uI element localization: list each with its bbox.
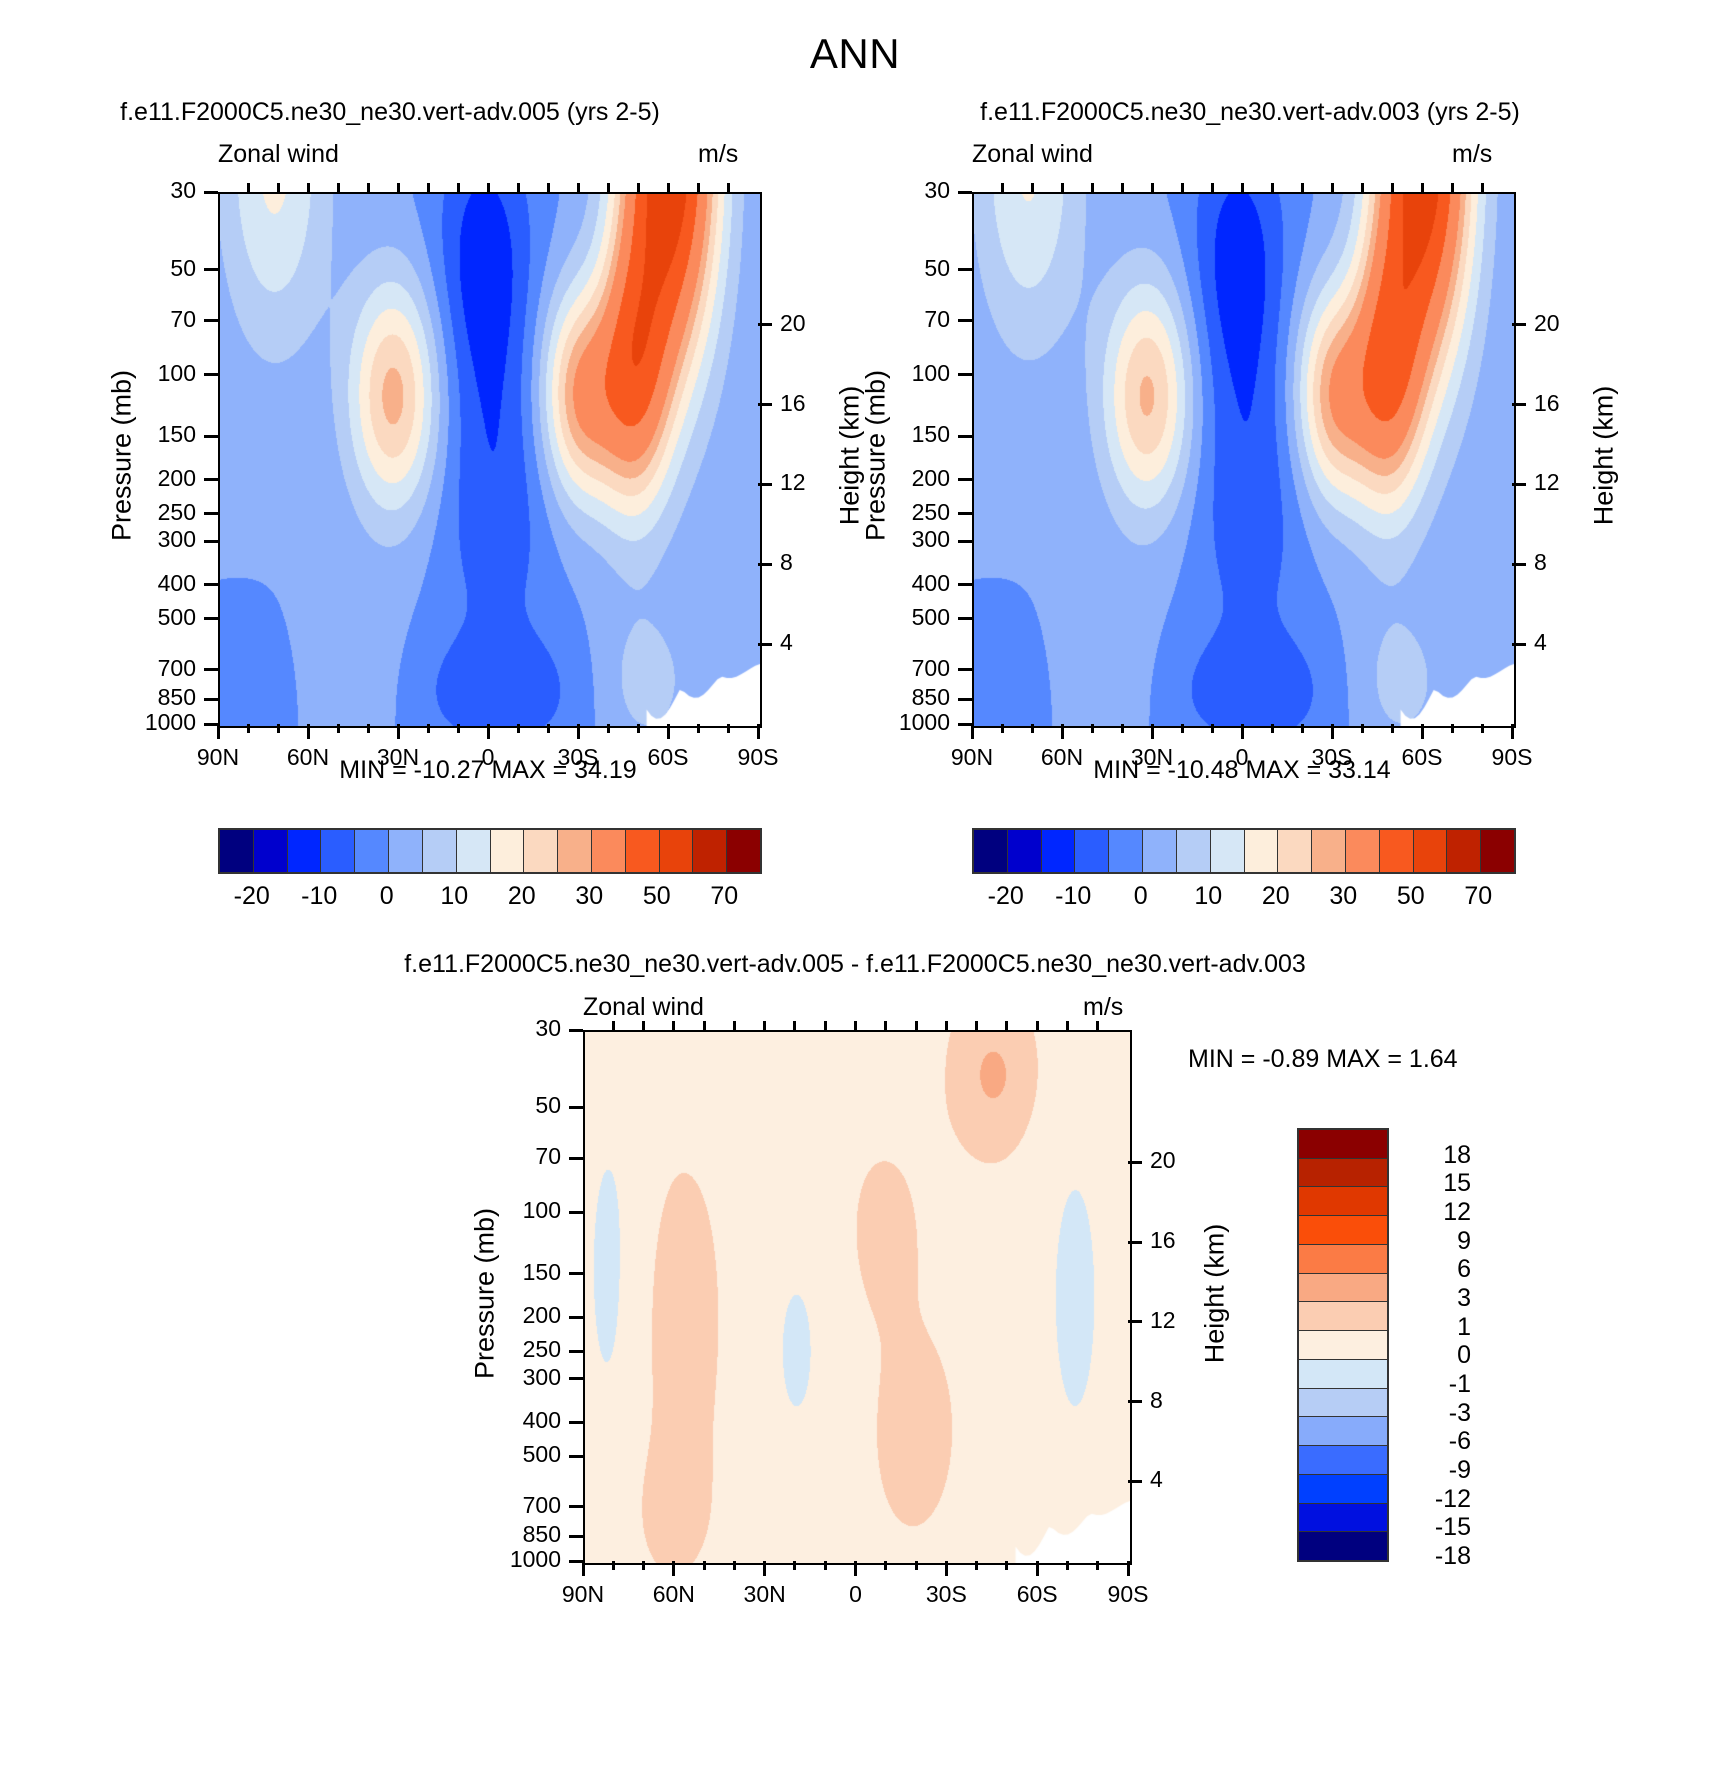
colorbar-swatch — [1299, 1389, 1387, 1418]
x-minor-tick — [1301, 724, 1304, 733]
x-top-tick — [307, 183, 310, 192]
colorbar-swatch — [220, 830, 254, 872]
colorbar-swatch — [321, 830, 355, 872]
y2-tick — [1128, 1241, 1142, 1244]
x-top-tick — [1031, 183, 1034, 192]
x-top-tick — [793, 1021, 796, 1030]
y-tick-label: 850 — [862, 684, 950, 711]
y2-tick-label: 8 — [1534, 549, 1547, 576]
y-tick-label: 850 — [108, 684, 196, 711]
x-tick-label: 90N — [543, 1581, 623, 1608]
x-tick-label: 0 — [816, 1581, 896, 1608]
colorbar-tick-label: 3 — [1401, 1284, 1471, 1313]
y2-tick-label: 12 — [780, 469, 806, 496]
panel-varlabel-right: Zonal wind — [972, 140, 1093, 169]
x-top-tick — [1481, 183, 1484, 192]
y-tick — [569, 1505, 583, 1508]
panel-title-left: f.e11.F2000C5.ne30_ne30.vert-adv.005 (yr… — [30, 98, 750, 127]
x-top-tick — [1211, 183, 1214, 192]
colorbar-swatch — [457, 830, 491, 872]
x-minor-tick — [637, 724, 640, 733]
colorbar-tick-label: 70 — [679, 882, 769, 911]
y-tick — [204, 478, 218, 481]
y-tick-label: 1000 — [473, 1546, 561, 1573]
x-minor-tick — [1001, 724, 1004, 733]
x-minor-tick — [277, 724, 280, 733]
panel-varlabel-left: Zonal wind — [218, 140, 339, 169]
y2-tick-label: 20 — [780, 310, 806, 337]
colorbar-swatch — [1299, 1187, 1387, 1216]
x-tick — [1036, 1561, 1039, 1576]
contour-plot-left — [218, 192, 762, 728]
x-minor-tick — [1005, 1561, 1008, 1570]
x-minor-tick — [975, 1561, 978, 1570]
x-top-tick — [427, 183, 430, 192]
y-tick-label: 250 — [862, 499, 950, 526]
x-tick-label: 90S — [718, 744, 798, 771]
x-top-tick — [1271, 183, 1274, 192]
x-minor-tick — [607, 724, 610, 733]
x-tick — [1241, 724, 1244, 739]
x-tick — [487, 724, 490, 739]
panel-unitslabel-right: m/s — [1452, 140, 1492, 169]
colorbar-swatch — [1143, 830, 1177, 872]
y-tick — [569, 1455, 583, 1458]
y-tick — [204, 373, 218, 376]
contour-plot-right — [972, 192, 1516, 728]
x-top-tick — [975, 1021, 978, 1030]
x-top-tick — [487, 183, 490, 192]
colorbar-swatch — [592, 830, 626, 872]
x-tick-label: 30S — [1292, 744, 1372, 771]
y2-tick — [1512, 483, 1526, 486]
x-minor-tick — [1211, 724, 1214, 733]
x-top-tick — [824, 1021, 827, 1030]
x-minor-tick — [697, 724, 700, 733]
x-tick-label: 60S — [628, 744, 708, 771]
colorbar-tick-label: -15 — [1401, 1513, 1471, 1542]
panel-title-diff: f.e11.F2000C5.ne30_ne30.vert-adv.005 - f… — [155, 950, 1555, 979]
y-tick-label: 100 — [862, 360, 950, 387]
x-tick — [217, 724, 220, 739]
colorbar-swatch — [1299, 1532, 1387, 1560]
y-tick — [204, 540, 218, 543]
x-tick-label: 30N — [725, 1581, 805, 1608]
x-tick-label: 60N — [1022, 744, 1102, 771]
x-minor-tick — [1451, 724, 1454, 733]
y-tick-label: 50 — [108, 255, 196, 282]
x-tick-label: 60S — [1382, 744, 1462, 771]
colorbar-tick-label: -1 — [1401, 1370, 1471, 1399]
x-minor-tick — [1031, 724, 1034, 733]
colorbar-swatch — [1278, 830, 1312, 872]
x-minor-tick — [1091, 724, 1094, 733]
y-tick-label: 1000 — [108, 709, 196, 736]
x-minor-tick — [247, 724, 250, 733]
x-tick-label: 60N — [634, 1581, 714, 1608]
colorbar-swatch — [1380, 830, 1414, 872]
x-top-tick — [517, 183, 520, 192]
colorbar-swatch — [254, 830, 288, 872]
x-tick — [1127, 1561, 1130, 1576]
y-tick-label: 30 — [473, 1015, 561, 1042]
colorbar-swatch — [1075, 830, 1109, 872]
x-tick-label: 90N — [932, 744, 1012, 771]
x-top-tick — [672, 1021, 675, 1030]
minmax-diff: MIN = -0.89 MAX = 1.64 — [1188, 1045, 1458, 1074]
x-top-tick — [1451, 183, 1454, 192]
y-tick-label: 500 — [862, 604, 950, 631]
y-tick — [958, 668, 972, 671]
y-tick-label: 100 — [473, 1197, 561, 1224]
y-tick — [569, 1029, 583, 1032]
y-tick — [204, 698, 218, 701]
x-tick-label: 30N — [1112, 744, 1192, 771]
x-top-tick — [1005, 1021, 1008, 1030]
y-tick — [204, 268, 218, 271]
panel-title-right: f.e11.F2000C5.ne30_ne30.vert-adv.003 (yr… — [890, 98, 1610, 127]
x-minor-tick — [1391, 724, 1394, 733]
x-minor-tick — [547, 724, 550, 733]
x-tick — [854, 1561, 857, 1576]
colorbar-swatch — [626, 830, 660, 872]
y-tick-label: 400 — [862, 570, 950, 597]
y2-tick — [1512, 403, 1526, 406]
y-tick-label: 700 — [473, 1492, 561, 1519]
x-minor-tick — [367, 724, 370, 733]
panel-varlabel-diff: Zonal wind — [583, 993, 704, 1022]
x-top-tick — [1001, 183, 1004, 192]
x-tick-label: 30S — [538, 744, 618, 771]
y-tick-label: 70 — [108, 306, 196, 333]
colorbar-swatch — [1109, 830, 1143, 872]
y-tick-label: 30 — [108, 177, 196, 204]
y-tick — [204, 512, 218, 515]
colorbar-right — [972, 828, 1516, 874]
y-tick — [958, 373, 972, 376]
colorbar-swatch — [1177, 830, 1211, 872]
x-top-tick — [637, 183, 640, 192]
x-minor-tick — [1096, 1561, 1099, 1570]
colorbar-swatch — [1299, 1159, 1387, 1188]
colorbar-tick-label: -18 — [1401, 1542, 1471, 1571]
y-tick — [569, 1350, 583, 1353]
x-tick-label: 0 — [448, 744, 528, 771]
x-tick — [763, 1561, 766, 1576]
y-tick-label: 300 — [862, 526, 950, 553]
colorbar-swatch — [974, 830, 1008, 872]
colorbar-swatch — [1346, 830, 1380, 872]
y-tick — [569, 1377, 583, 1380]
x-tick-label: 0 — [1202, 744, 1282, 771]
colorbar-swatch — [1299, 1475, 1387, 1504]
x-top-tick — [337, 183, 340, 192]
y-tick-label: 200 — [862, 465, 950, 492]
x-minor-tick — [727, 724, 730, 733]
contour-plot-diff — [583, 1030, 1132, 1565]
y-tick — [569, 1272, 583, 1275]
colorbar-swatch — [1299, 1417, 1387, 1446]
y-tick-label: 400 — [473, 1407, 561, 1434]
y-tick-label: 500 — [108, 604, 196, 631]
y2-tick-label: 4 — [780, 629, 793, 656]
y-tick-label: 30 — [862, 177, 950, 204]
y-tick — [958, 698, 972, 701]
x-top-tick — [547, 183, 550, 192]
y-tick-label: 50 — [862, 255, 950, 282]
y-tick-label: 700 — [862, 655, 950, 682]
colorbar-swatch — [660, 830, 694, 872]
x-top-tick — [1361, 183, 1364, 192]
colorbar-diff — [1297, 1128, 1389, 1562]
x-top-tick — [915, 1021, 918, 1030]
colorbar-swatch — [491, 830, 525, 872]
y-tick — [958, 319, 972, 322]
y-tick-label: 700 — [108, 655, 196, 682]
x-top-tick — [457, 183, 460, 192]
x-top-tick — [884, 1021, 887, 1030]
y-tick — [958, 583, 972, 586]
y-tick-label: 250 — [108, 499, 196, 526]
y2-tick — [1512, 643, 1526, 646]
x-tick — [1061, 724, 1064, 739]
y2-tick-label: 16 — [780, 390, 806, 417]
x-top-tick — [763, 1021, 766, 1030]
y-tick — [569, 1211, 583, 1214]
y-tick-label: 250 — [473, 1336, 561, 1363]
x-minor-tick — [612, 1561, 615, 1570]
x-minor-tick — [1361, 724, 1364, 733]
colorbar-swatch — [355, 830, 389, 872]
x-minor-tick — [884, 1561, 887, 1570]
colorbar-tick-label: 12 — [1401, 1198, 1471, 1227]
y-tick-label: 200 — [473, 1302, 561, 1329]
y2-tick — [1128, 1320, 1142, 1323]
x-tick — [1151, 724, 1154, 739]
colorbar-swatch — [1299, 1446, 1387, 1475]
colorbar-swatch — [1008, 830, 1042, 872]
colorbar-swatch — [524, 830, 558, 872]
y2-tick-label: 12 — [1150, 1307, 1176, 1334]
y-tick — [958, 435, 972, 438]
x-minor-tick — [1121, 724, 1124, 733]
colorbar-swatch — [1211, 830, 1245, 872]
y-tick — [569, 1535, 583, 1538]
y2-tick-label: 16 — [1150, 1227, 1176, 1254]
x-minor-tick — [457, 724, 460, 733]
colorbar-tick-label: 9 — [1401, 1227, 1471, 1256]
x-tick — [1331, 724, 1334, 739]
x-tick — [971, 724, 974, 739]
x-tick — [397, 724, 400, 739]
y2-tick-label: 4 — [1150, 1466, 1163, 1493]
y-tick — [204, 583, 218, 586]
x-top-tick — [945, 1021, 948, 1030]
x-top-tick — [277, 183, 280, 192]
y-tick-label: 850 — [473, 1521, 561, 1548]
y-tick-label: 300 — [108, 526, 196, 553]
colorbar-swatch — [1299, 1130, 1387, 1159]
y2-tick — [758, 323, 772, 326]
x-tick — [307, 724, 310, 739]
x-top-tick — [1241, 183, 1244, 192]
x-minor-tick — [1181, 724, 1184, 733]
y-tick-label: 150 — [862, 421, 950, 448]
colorbar-tick-label: 70 — [1433, 882, 1523, 911]
y-tick-label: 200 — [108, 465, 196, 492]
x-minor-tick — [703, 1561, 706, 1570]
y-tick — [958, 617, 972, 620]
x-minor-tick — [733, 1561, 736, 1570]
y-tick — [958, 268, 972, 271]
x-tick-label: 60N — [268, 744, 348, 771]
colorbar-swatch — [1414, 830, 1448, 872]
y-tick-label: 70 — [473, 1143, 561, 1170]
y-tick-label: 70 — [862, 306, 950, 333]
colorbar-tick-label: -3 — [1401, 1399, 1471, 1428]
x-minor-tick — [517, 724, 520, 733]
x-minor-tick — [427, 724, 430, 733]
y-tick — [569, 1106, 583, 1109]
x-tick — [1511, 724, 1514, 739]
x-top-tick — [642, 1021, 645, 1030]
y-tick-label: 50 — [473, 1092, 561, 1119]
x-top-tick — [1301, 183, 1304, 192]
x-top-tick — [607, 183, 610, 192]
x-top-tick — [697, 183, 700, 192]
x-top-tick — [1121, 183, 1124, 192]
colorbar-tick-label: 6 — [1401, 1255, 1471, 1284]
x-top-tick — [667, 183, 670, 192]
y2-tick — [758, 643, 772, 646]
x-top-tick — [367, 183, 370, 192]
colorbar-swatch — [1481, 830, 1514, 872]
x-minor-tick — [915, 1561, 918, 1570]
x-tick-label: 90S — [1088, 1581, 1168, 1608]
panel-unitslabel-diff: m/s — [1083, 993, 1123, 1022]
y-tick-label: 400 — [108, 570, 196, 597]
x-minor-tick — [793, 1561, 796, 1570]
x-tick-label: 90N — [178, 744, 258, 771]
y-tick — [204, 668, 218, 671]
y2-tick — [1128, 1161, 1142, 1164]
colorbar-tick-label: -12 — [1401, 1485, 1471, 1514]
x-top-tick — [1036, 1021, 1039, 1030]
y2-tick-label: 16 — [1534, 390, 1560, 417]
colorbar-swatch — [1299, 1302, 1387, 1331]
colorbar-tick-label: 15 — [1401, 1169, 1471, 1198]
x-top-tick — [1331, 183, 1334, 192]
y2-tick — [758, 403, 772, 406]
colorbar-tick-label: 0 — [1401, 1341, 1471, 1370]
colorbar-swatch — [558, 830, 592, 872]
x-minor-tick — [1271, 724, 1274, 733]
x-tick — [577, 724, 580, 739]
x-top-tick — [1151, 183, 1154, 192]
x-tick — [582, 1561, 585, 1576]
colorbar-swatch — [1245, 830, 1279, 872]
colorbar-swatch — [1299, 1504, 1387, 1533]
y2-tick — [758, 563, 772, 566]
colorbar-swatch — [1042, 830, 1076, 872]
y2-tick-label: 12 — [1534, 469, 1560, 496]
colorbar-tick-label: -9 — [1401, 1456, 1471, 1485]
x-tick — [945, 1561, 948, 1576]
x-tick — [667, 724, 670, 739]
x-tick-label: 30N — [358, 744, 438, 771]
colorbar-tick-label: 1 — [1401, 1313, 1471, 1342]
x-tick — [672, 1561, 675, 1576]
x-minor-tick — [337, 724, 340, 733]
colorbar-swatch — [1299, 1331, 1387, 1360]
colorbar-swatch — [1312, 830, 1346, 872]
colorbar-tick-label: -6 — [1401, 1427, 1471, 1456]
y-tick — [204, 191, 218, 194]
x-top-tick — [247, 183, 250, 192]
colorbar-swatch — [1299, 1360, 1387, 1389]
x-top-tick — [1181, 183, 1184, 192]
y-tick-label: 500 — [473, 1441, 561, 1468]
y-tick-label: 150 — [108, 421, 196, 448]
x-tick-label: 30S — [906, 1581, 986, 1608]
y2-tick-label: 8 — [780, 549, 793, 576]
x-top-tick — [577, 183, 580, 192]
x-top-tick — [1096, 1021, 1099, 1030]
y-tick-label: 100 — [108, 360, 196, 387]
x-top-tick — [1421, 183, 1424, 192]
colorbar-swatch — [1299, 1216, 1387, 1245]
panel-unitslabel-left: m/s — [698, 140, 738, 169]
y2-tick-label: 4 — [1534, 629, 1547, 656]
main-title: ANN — [0, 30, 1710, 78]
y2-tick — [758, 483, 772, 486]
y2-tick-label: 20 — [1534, 310, 1560, 337]
x-tick-label: 90S — [1472, 744, 1552, 771]
y-tick — [569, 1316, 583, 1319]
colorbar-left — [218, 828, 762, 874]
y-tick — [204, 435, 218, 438]
x-top-tick — [1391, 183, 1394, 192]
x-top-tick — [397, 183, 400, 192]
x-tick — [1421, 724, 1424, 739]
y-tick — [569, 1421, 583, 1424]
y2-axis-label-diff: Height (km) — [1200, 1164, 1231, 1424]
x-top-tick — [1091, 183, 1094, 192]
x-tick-label: 60S — [997, 1581, 1077, 1608]
colorbar-tick-label: 18 — [1401, 1141, 1471, 1170]
y-tick — [958, 191, 972, 194]
y2-tick-label: 20 — [1150, 1147, 1176, 1174]
x-top-tick — [703, 1021, 706, 1030]
x-top-tick — [733, 1021, 736, 1030]
y-tick-label: 1000 — [862, 709, 950, 736]
y2-tick — [1128, 1480, 1142, 1483]
y-tick-label: 150 — [473, 1259, 561, 1286]
y-tick-label: 300 — [473, 1364, 561, 1391]
y-tick — [958, 478, 972, 481]
y-tick — [958, 512, 972, 515]
colorbar-swatch — [423, 830, 457, 872]
x-top-tick — [1061, 183, 1064, 192]
y2-tick-label: 8 — [1150, 1387, 1163, 1414]
y2-tick — [1512, 563, 1526, 566]
x-top-tick — [854, 1021, 857, 1030]
y-tick — [569, 1157, 583, 1160]
y-tick — [204, 617, 218, 620]
x-minor-tick — [824, 1561, 827, 1570]
x-minor-tick — [1066, 1561, 1069, 1570]
y2-tick — [1128, 1400, 1142, 1403]
